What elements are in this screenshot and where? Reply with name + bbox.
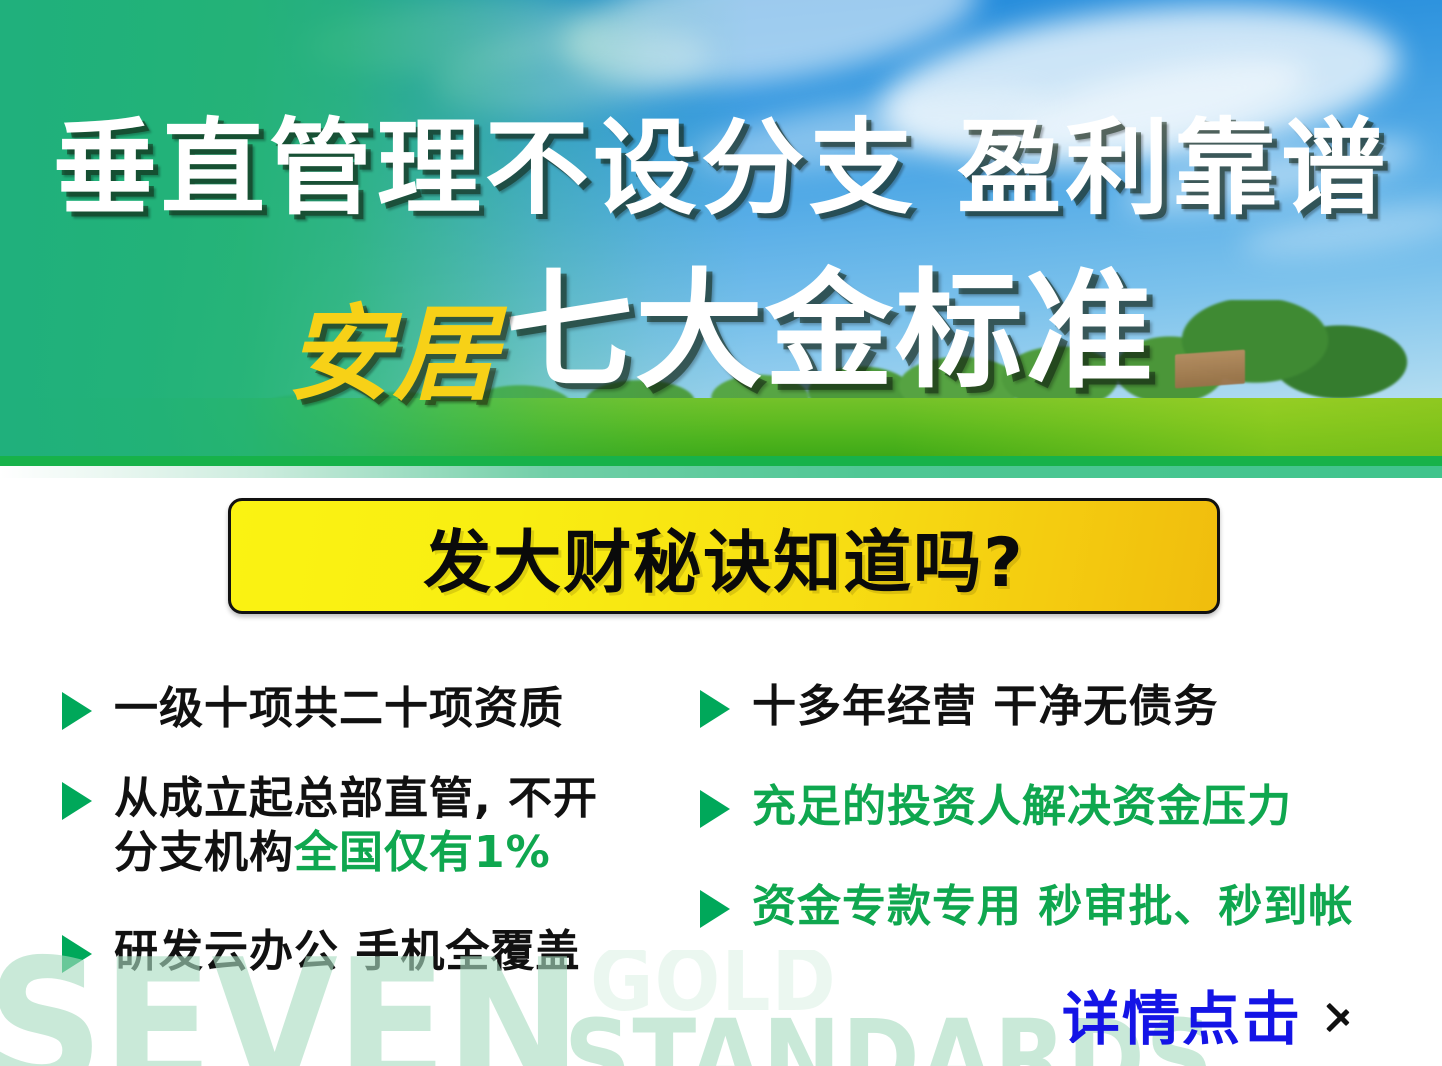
feature-item: 从成立起总部直管, 不开 分支机构全国仅有1%: [62, 772, 598, 879]
feature-item: 十多年经营 干净无债务: [700, 680, 1218, 734]
features-section: 一级十项共二十项资质 从成立起总部直管, 不开 分支机构全国仅有1% 研发云办公…: [0, 660, 1442, 980]
triangle-bullet-icon: [700, 790, 730, 828]
hero-subtitle-white: 七大金标准: [505, 268, 1155, 396]
hero-headline: 垂直管理不设分支 盈利靠谱: [0, 116, 1442, 220]
feature-text-line1: 从成立起总部直管, 不开: [114, 773, 598, 824]
feature-item: 一级十项共二十项资质: [62, 682, 564, 736]
triangle-bullet-icon: [700, 890, 730, 928]
feature-text: 资金专款专用 秒审批、秒到帐: [752, 880, 1353, 934]
hero-subtitle-gold: 安居: [287, 302, 499, 406]
hero-green-divider: [0, 456, 1442, 466]
chevron-right-icon: [1324, 992, 1354, 1036]
hero-subtitle: 安居 七大金标准: [0, 268, 1442, 396]
feature-text: 从成立起总部直管, 不开 分支机构全国仅有1%: [114, 772, 598, 879]
feature-text-highlight: 全国仅有1%: [294, 827, 551, 878]
details-cta-button[interactable]: 详情点击: [1062, 972, 1354, 1056]
details-cta-label: 详情点击: [1062, 972, 1302, 1056]
feature-text: 研发云办公 手机全覆盖: [114, 925, 580, 979]
hero-fade-divider: [0, 466, 1442, 478]
feature-text: 充足的投资人解决资金压力: [752, 780, 1292, 834]
triangle-bullet-icon: [62, 692, 92, 730]
question-ribbon[interactable]: 发大财秘诀知道吗?: [228, 498, 1220, 614]
question-ribbon-label: 发大财秘诀知道吗?: [423, 507, 1024, 606]
hero-section: 垂直管理不设分支 盈利靠谱 安居 七大金标准: [0, 0, 1442, 456]
feature-item: 研发云办公 手机全覆盖: [62, 925, 580, 979]
triangle-bullet-icon: [62, 935, 92, 973]
feature-text: 十多年经营 干净无债务: [752, 680, 1218, 734]
feature-text: 一级十项共二十项资质: [114, 682, 564, 736]
triangle-bullet-icon: [700, 690, 730, 728]
feature-item: 充足的投资人解决资金压力: [700, 780, 1292, 834]
triangle-bullet-icon: [62, 782, 92, 820]
feature-text-line2: 分支机构: [114, 827, 294, 878]
feature-item: 资金专款专用 秒审批、秒到帐: [700, 880, 1353, 934]
promo-banner: 垂直管理不设分支 盈利靠谱 安居 七大金标准 发大财秘诀知道吗? 一级十项共二十…: [0, 0, 1442, 1066]
